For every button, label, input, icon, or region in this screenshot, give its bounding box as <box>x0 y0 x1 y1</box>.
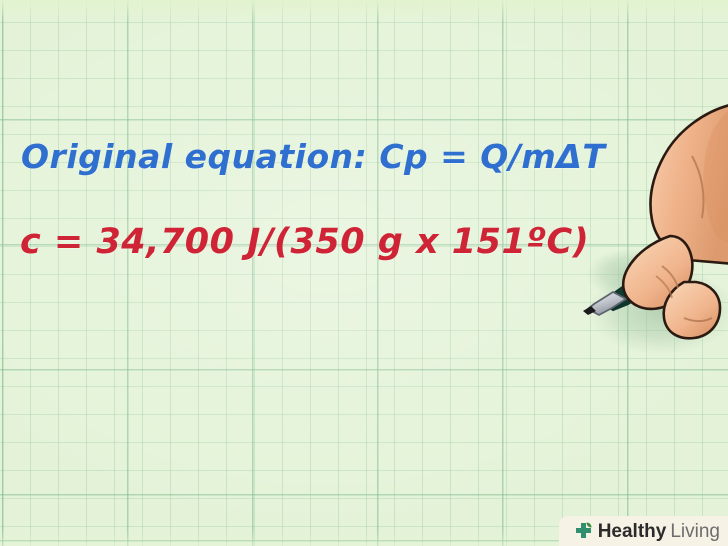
watermark-brand: HealthyLiving <box>598 522 720 541</box>
watermark-brand-light: Living <box>670 521 720 542</box>
watermark-brand-bold: Healthy <box>598 521 667 542</box>
graph-paper-background <box>0 0 728 546</box>
substituted-equation-text: c = 34,700 J/(350 g x 151ºC) <box>20 222 589 262</box>
screenshot-canvas: Original equation: Cp = Q/mΔT c = 34,700… <box>0 0 728 546</box>
original-equation-text: Original equation: Cp = Q/mΔT <box>21 137 605 176</box>
cross-leaf-icon <box>573 521 594 542</box>
watermark-badge: HealthyLiving <box>559 516 728 546</box>
